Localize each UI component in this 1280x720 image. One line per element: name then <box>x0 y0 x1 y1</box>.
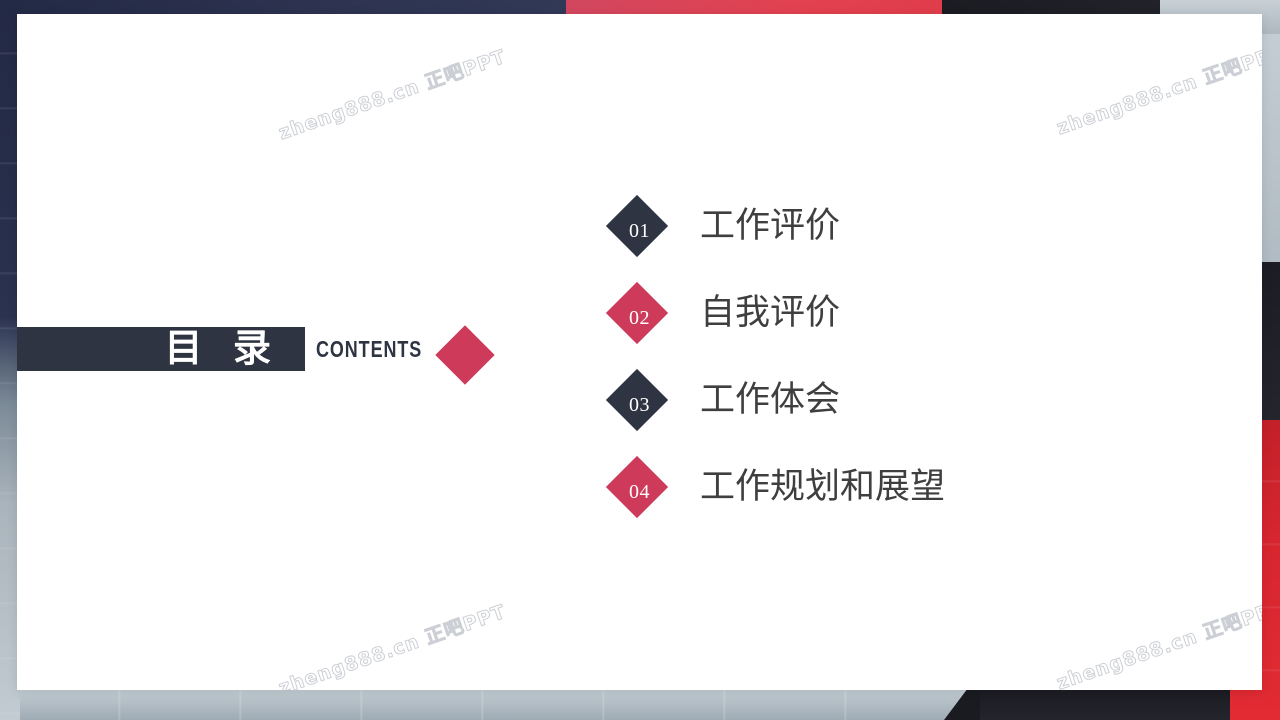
watermark: zheng888.cn 正吧PPT <box>1053 37 1262 140</box>
contents-item-number: 01 <box>615 204 659 248</box>
page-title: 目 录 <box>164 330 281 368</box>
contents-item-number: 04 <box>615 465 659 509</box>
contents-item-number: 02 <box>615 291 659 335</box>
title-bar: 目 录 <box>17 327 305 371</box>
contents-item-number: 03 <box>615 378 659 422</box>
watermark: zheng888.cn 正吧PPT <box>1053 592 1262 690</box>
contents-item-label: 自我评价 <box>700 288 840 338</box>
slide-sheet: zheng888.cn 正吧PPT zheng888.cn 正吧PPT zhen… <box>17 14 1262 690</box>
watermark: zheng888.cn 正吧PPT <box>275 42 509 145</box>
contents-item-label: 工作评价 <box>700 201 840 251</box>
slide-canvas: zheng888.cn 正吧PPT zheng888.cn 正吧PPT zhen… <box>0 0 1280 720</box>
page-subtitle: CONTENTS <box>316 336 422 363</box>
diamond-icon <box>435 325 494 384</box>
watermark: zheng888.cn 正吧PPT <box>275 597 509 690</box>
contents-item-label: 工作规划和展望 <box>700 462 945 512</box>
contents-item-label: 工作体会 <box>700 375 840 425</box>
